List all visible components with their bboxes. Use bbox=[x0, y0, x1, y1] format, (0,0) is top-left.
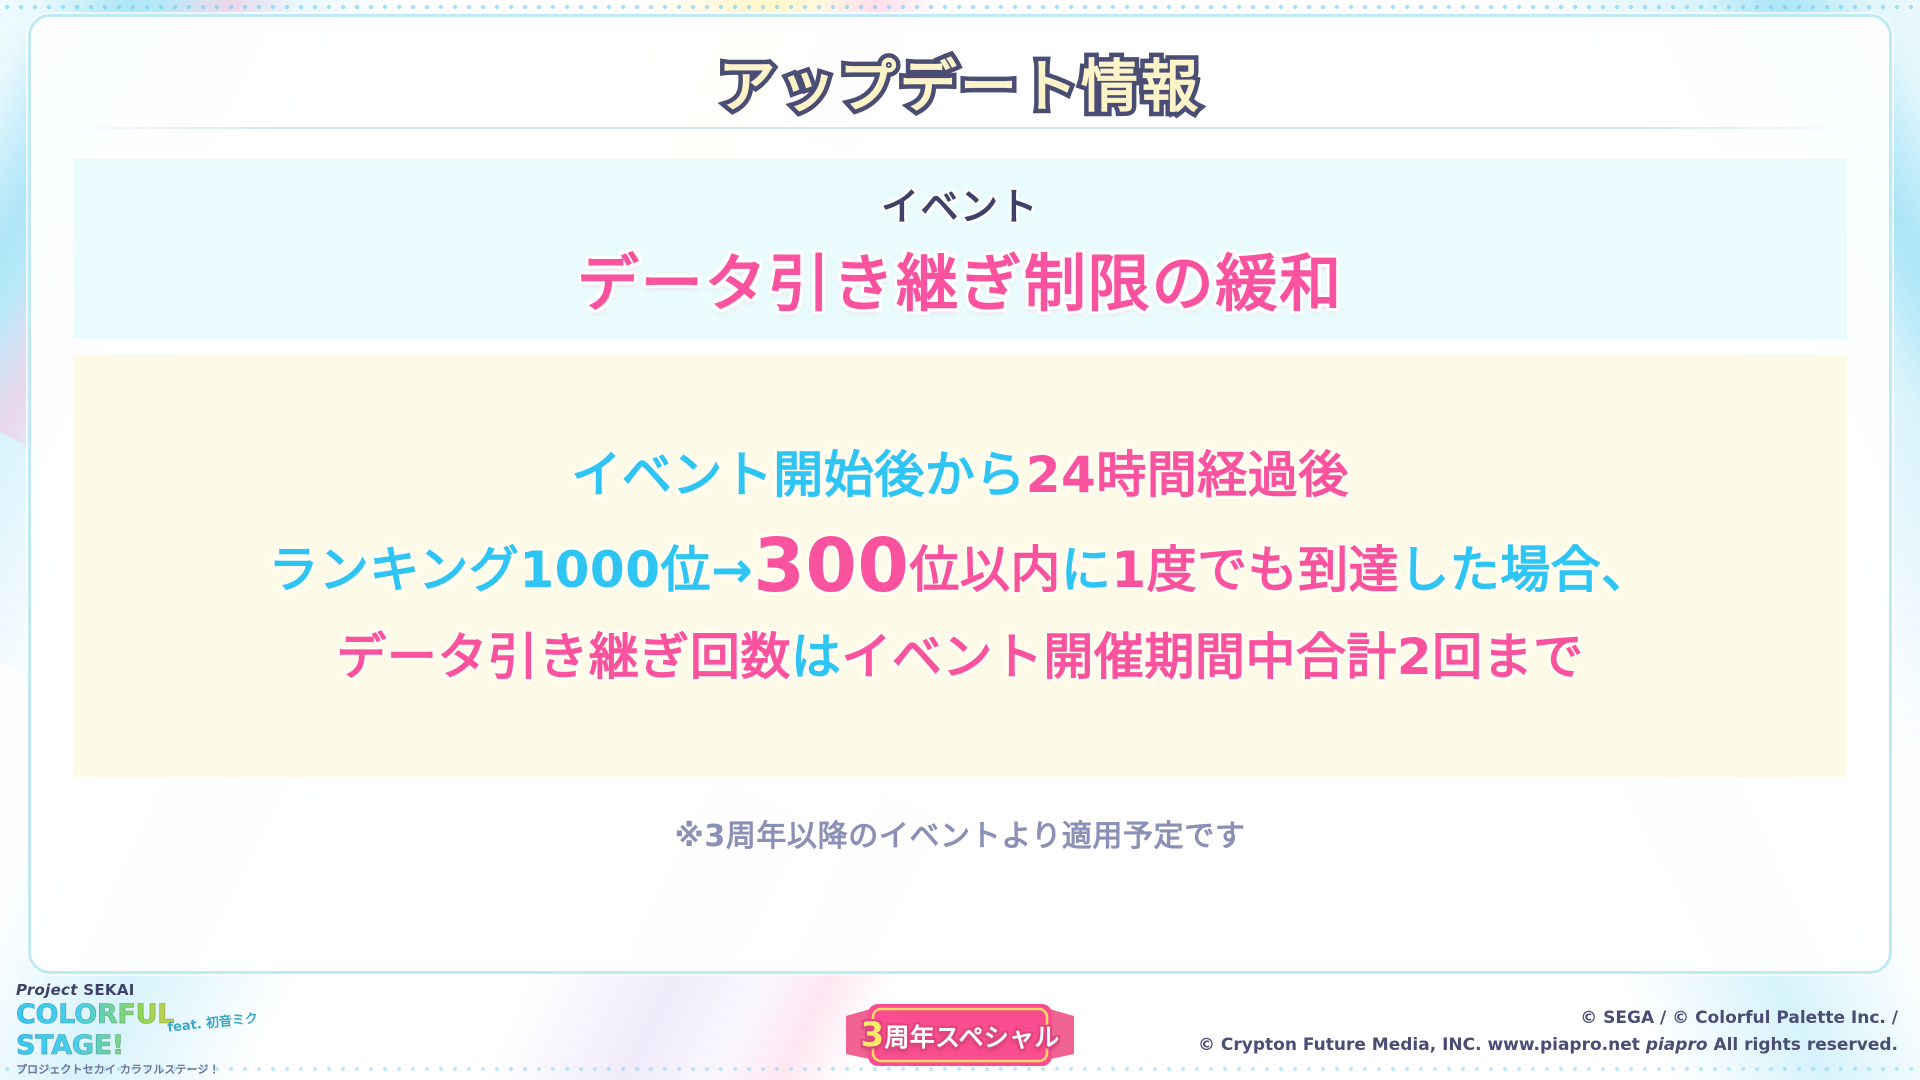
body-segment-3-2: は bbox=[791, 628, 842, 686]
copyright-line-2: © Crypton Future Media, INC. www.piapro.… bbox=[1198, 1032, 1898, 1058]
title-area: アップデート情報 bbox=[31, 17, 1889, 129]
anniversary-label: 周年スペシャル bbox=[884, 1023, 1059, 1052]
logo-subtitle-jp: プロジェクトセカイ カラフルステージ！ bbox=[16, 1061, 266, 1077]
content-card: アップデート情報 イベント データ引き継ぎ制限の緩和 イベント開始後から24時間… bbox=[28, 14, 1892, 974]
copyright-line-1: © SEGA / © Colorful Palette Inc. / bbox=[1198, 1005, 1898, 1031]
body-segment-3-3: イベント開催期間中合計2回まで bbox=[841, 628, 1583, 686]
anniversary-badge: 3周年スペシャル bbox=[840, 998, 1080, 1072]
body-segment-1-2: 24時間経過後 bbox=[1026, 446, 1349, 504]
slide-root: アップデート情報 イベント データ引き継ぎ制限の緩和 イベント開始後から24時間… bbox=[0, 0, 1920, 1080]
body-segment-3-1: データ引き継ぎ回数 bbox=[336, 628, 791, 686]
logo-line-project-sekai: Project SEKAI bbox=[16, 981, 266, 999]
body-panel: イベント開始後から24時間経過後 ランキング1000位→300位以内に1度でも到… bbox=[73, 355, 1847, 777]
body-line-1: イベント開始後から24時間経過後 bbox=[571, 447, 1349, 503]
title-divider bbox=[67, 127, 1853, 129]
copyright-rights: All rights reserved. bbox=[1713, 1035, 1898, 1055]
headline-panel: イベント データ引き継ぎ制限の緩和 bbox=[73, 159, 1847, 339]
body-segment-1-1: イベント開始後から bbox=[571, 446, 1026, 504]
body-segment-2-5: 1度でも到達 bbox=[1111, 541, 1399, 599]
page-title: アップデート情報 bbox=[718, 41, 1201, 123]
body-segment-2-4: に bbox=[1061, 541, 1112, 599]
body-line-2: ランキング1000位→300位以内に1度でも到達した場合、 bbox=[268, 525, 1651, 608]
game-logo: Project SEKAI COLORFUL STAGE! プロジェクトセカイ … bbox=[16, 996, 266, 1062]
logo-project-word: Project bbox=[16, 981, 78, 999]
body-segment-2-3: 位以内 bbox=[909, 541, 1061, 599]
body-line-3: データ引き継ぎ回数はイベント開催期間中合計2回まで bbox=[336, 629, 1583, 685]
copyright-crypton: © Crypton Future Media, INC. www.piapro.… bbox=[1198, 1035, 1640, 1055]
anniversary-number: 3 bbox=[861, 1015, 885, 1055]
copyright-block: © SEGA / © Colorful Palette Inc. / © Cry… bbox=[1198, 1005, 1898, 1058]
body-segment-2-1: ランキング1000位→ bbox=[268, 541, 753, 599]
body-segment-2-2: 300 bbox=[753, 523, 909, 609]
footnote-text: ※3周年以降のイベントより適用予定です bbox=[31, 811, 1889, 855]
logo-colorful-stage: COLORFUL STAGE! bbox=[16, 999, 266, 1061]
headline-text: データ引き継ぎ制限の緩和 bbox=[577, 233, 1343, 323]
piapro-logo-text: piapro bbox=[1646, 1035, 1708, 1055]
body-segment-2-6: した場合、 bbox=[1399, 541, 1652, 599]
logo-sekai-word: SEKAI bbox=[83, 981, 134, 999]
headline-eyebrow: イベント bbox=[881, 176, 1039, 231]
anniversary-badge-text: 3周年スペシャル bbox=[861, 1015, 1060, 1055]
